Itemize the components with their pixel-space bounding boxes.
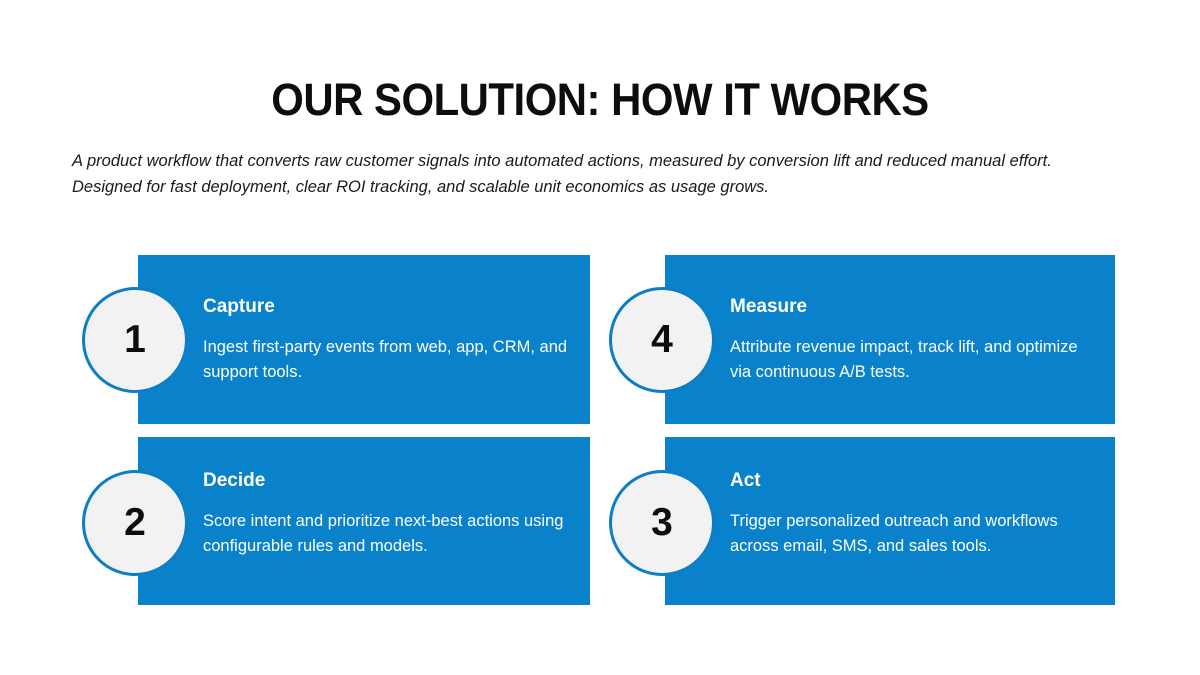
step-card-measure[interactable]: Measure Attribute revenue impact, track …	[665, 255, 1115, 424]
step-number: 3	[651, 503, 673, 542]
step-description: Attribute revenue impact, track lift, an…	[730, 335, 1097, 385]
step-number-badge-3: 3	[609, 470, 715, 576]
step-number: 1	[124, 320, 146, 359]
step-description: Trigger personalized outreach and workfl…	[730, 509, 1097, 559]
step-number-badge-4: 4	[609, 287, 715, 393]
step-card-text: Measure Attribute revenue impact, track …	[730, 295, 1097, 385]
step-card-capture[interactable]: Capture Ingest first-party events from w…	[138, 255, 590, 424]
step-number-badge-2: 2	[82, 470, 188, 576]
step-card-act[interactable]: Act Trigger personalized outreach and wo…	[665, 437, 1115, 605]
steps-container: Capture Ingest first-party events from w…	[0, 0, 1200, 675]
step-title: Decide	[203, 469, 572, 493]
step-card-text: Act Trigger personalized outreach and wo…	[730, 469, 1097, 559]
step-card-decide[interactable]: Decide Score intent and prioritize next-…	[138, 437, 590, 605]
step-description: Score intent and prioritize next-best ac…	[203, 509, 572, 559]
step-number: 4	[651, 320, 673, 359]
step-title: Act	[730, 469, 1097, 493]
step-number: 2	[124, 503, 146, 542]
step-description: Ingest first-party events from web, app,…	[203, 335, 572, 385]
step-title: Capture	[203, 295, 572, 319]
step-card-text: Capture Ingest first-party events from w…	[203, 295, 572, 385]
step-title: Measure	[730, 295, 1097, 319]
step-number-badge-1: 1	[82, 287, 188, 393]
slide-canvas: OUR SOLUTION: HOW IT WORKS A product wor…	[0, 0, 1200, 675]
step-card-text: Decide Score intent and prioritize next-…	[203, 469, 572, 559]
